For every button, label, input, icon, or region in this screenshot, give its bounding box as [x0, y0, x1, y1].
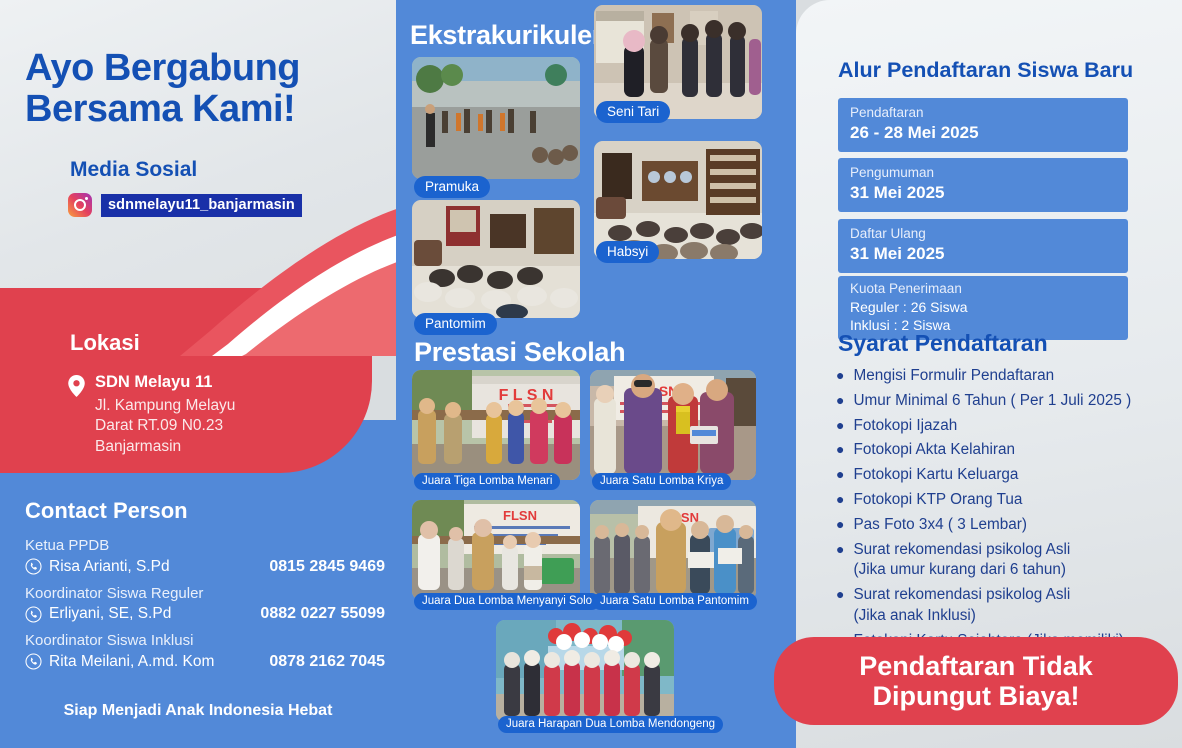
- instagram-icon: [68, 193, 92, 217]
- contact-line[interactable]: Rita Meilani, A.md. Kom 0878 2162 7045: [25, 653, 385, 671]
- list-item: ●Surat rekomendasi psikolog Asli (Jika a…: [836, 585, 1166, 627]
- step-value: 31 Mei 2025: [850, 243, 1116, 264]
- phone-icon: [25, 558, 42, 575]
- contact-phone[interactable]: 0882 0227 55099: [260, 605, 385, 623]
- photo-prestasi-1: F L S N: [412, 370, 580, 480]
- contact-line[interactable]: Erliyani, SE, S.Pd 0882 0227 55099: [25, 605, 385, 623]
- lokasi-city: Banjarmasin: [95, 437, 235, 457]
- page-title: Ayo Bergabung Bersama Kami!: [25, 48, 300, 130]
- bullet-icon: ●: [836, 366, 844, 387]
- list-item: ●Mengisi Formulir Pendaftaran: [836, 366, 1166, 387]
- syarat-text: Surat rekomendasi psikolog Asli (Jika um…: [853, 540, 1070, 582]
- step-daftar-ulang: Daftar Ulang 31 Mei 2025: [838, 219, 1128, 273]
- contact-entry: Koordinator Siswa Reguler Erliyani, SE, …: [25, 583, 385, 624]
- contact-entry: Koordinator Siswa Inklusi Rita Meilani, …: [25, 630, 385, 671]
- contact-line[interactable]: Risa Arianti, S.Pd 0815 2845 9469: [25, 558, 385, 576]
- list-item: ●Surat rekomendasi psikolog Asli (Jika u…: [836, 540, 1166, 582]
- contact-name: Rita Meilani, A.md. Kom: [49, 653, 214, 671]
- syarat-text: Fotokopi Akta Kelahiran: [853, 440, 1015, 461]
- syarat-heading: Syarat Pendaftaran: [838, 330, 1048, 357]
- step-label: Pendaftaran: [850, 105, 1116, 122]
- syarat-text: Pas Foto 3x4 ( 3 Lembar): [853, 515, 1026, 536]
- bullet-icon: ●: [836, 391, 844, 412]
- list-item: ●Pas Foto 3x4 ( 3 Lembar): [836, 515, 1166, 536]
- contact-person-list: Ketua PPDB Risa Arianti, S.Pd 0815 2845 …: [25, 535, 385, 678]
- contact-phone[interactable]: 0878 2162 7045: [269, 653, 385, 671]
- instagram-handle[interactable]: sdnmelayu11_banjarmasin: [101, 194, 302, 217]
- lokasi-heading: Lokasi: [70, 330, 140, 356]
- step-pendaftaran: Pendaftaran 26 - 28 Mei 2025: [838, 98, 1128, 152]
- left-panel: Ayo Bergabung Bersama Kami! Media Sosial…: [0, 0, 396, 748]
- instagram-row[interactable]: sdnmelayu11_banjarmasin: [68, 193, 302, 217]
- lokasi-school-name: SDN Melayu 11: [95, 372, 235, 394]
- ekstrakurikuler-heading: Ekstrakurikuler: [410, 20, 602, 51]
- bullet-icon: ●: [836, 540, 844, 582]
- contact-name: Erliyani, SE, S.Pd: [49, 605, 171, 623]
- right-panel: Alur Pendaftaran Siswa Baru Pendaftaran …: [796, 0, 1182, 748]
- map-pin-icon: [68, 375, 85, 397]
- list-item: ●Fotokopi KTP Orang Tua: [836, 490, 1166, 511]
- syarat-text: Fotokopi Kartu Keluarga: [853, 465, 1018, 486]
- list-item: ●Fotokopi Akta Kelahiran: [836, 440, 1166, 461]
- middle-panel: Ekstrakurikuler: [396, 0, 796, 748]
- contact-person-heading: Contact Person: [25, 498, 188, 524]
- caption-prestasi-2: Juara Satu Lomba Kriya: [592, 473, 731, 490]
- alur-heading: Alur Pendaftaran Siswa Baru: [838, 58, 1133, 83]
- caption-prestasi-1: Juara Tiga Lomba Menari: [414, 473, 560, 490]
- bullet-icon: ●: [836, 515, 844, 536]
- caption-pantomim: Pantomim: [414, 313, 497, 335]
- list-item: ●Fotokopi Ijazah: [836, 416, 1166, 437]
- step-value: 31 Mei 2025: [850, 182, 1116, 203]
- photo-prestasi-2: FLSN: [590, 370, 756, 480]
- photo-prestasi-5: [496, 620, 674, 722]
- syarat-list: ●Mengisi Formulir Pendaftaran ●Umur Mini…: [836, 366, 1166, 656]
- phone-icon: [25, 653, 42, 670]
- bullet-icon: ●: [836, 585, 844, 627]
- step-pengumuman: Pengumuman 31 Mei 2025: [838, 158, 1128, 212]
- caption-seni-tari: Seni Tari: [596, 101, 670, 123]
- media-sosial-label: Media Sosial: [70, 158, 197, 182]
- syarat-text: Surat rekomendasi psikolog Asli (Jika an…: [853, 585, 1070, 627]
- step-label: Daftar Ulang: [850, 226, 1116, 243]
- poster-root: Ayo Bergabung Bersama Kami! Media Sosial…: [0, 0, 1182, 748]
- contact-name: Risa Arianti, S.Pd: [49, 558, 170, 576]
- caption-pramuka: Pramuka: [414, 176, 490, 198]
- kuota-reguler: Reguler : 26 Siswa: [850, 298, 1116, 316]
- free-registration-banner: Pendaftaran Tidak Dipungut Biaya!: [774, 637, 1178, 725]
- contact-role: Koordinator Siswa Inklusi: [25, 630, 385, 653]
- contact-role: Koordinator Siswa Reguler: [25, 583, 385, 606]
- caption-prestasi-5: Juara Harapan Dua Lomba Mendongeng: [498, 716, 723, 733]
- banner-text: Pendaftaran Tidak Dipungut Biaya!: [859, 651, 1093, 711]
- lokasi-address: SDN Melayu 11 Jl. Kampung Melayu Darat R…: [95, 372, 235, 457]
- bullet-icon: ●: [836, 440, 844, 461]
- headline-line-2: Bersama Kami!: [25, 89, 300, 130]
- headline-line-1: Ayo Bergabung: [25, 48, 300, 89]
- photo-prestasi-3: FLSN: [412, 500, 580, 600]
- syarat-text: Umur Minimal 6 Tahun ( Per 1 Juli 2025 ): [853, 391, 1131, 412]
- footer-tagline: Siap Menjadi Anak Indonesia Hebat: [0, 702, 396, 720]
- caption-habsyi: Habsyi: [596, 241, 659, 263]
- photo-prestasi-4: FLSN: [590, 500, 756, 600]
- kuota-label: Kuota Penerimaan: [850, 281, 1116, 298]
- contact-role: Ketua PPDB: [25, 535, 385, 558]
- caption-prestasi-4: Juara Satu Lomba Pantomim: [592, 593, 757, 610]
- lokasi-street: Jl. Kampung Melayu: [95, 396, 235, 416]
- photo-pantomim: [412, 200, 580, 318]
- banner-line-2: Dipungut Biaya!: [859, 681, 1093, 711]
- syarat-text: Fotokopi Ijazah: [853, 416, 957, 437]
- phone-icon: [25, 606, 42, 623]
- syarat-text: Fotokopi KTP Orang Tua: [853, 490, 1022, 511]
- contact-entry: Ketua PPDB Risa Arianti, S.Pd 0815 2845 …: [25, 535, 385, 576]
- lokasi-rt: Darat RT.09 N0.23: [95, 416, 235, 436]
- left-panel-content: Ayo Bergabung Bersama Kami! Media Sosial…: [0, 0, 396, 748]
- svg-text:FLSN: FLSN: [503, 508, 537, 523]
- bullet-icon: ●: [836, 465, 844, 486]
- step-value: 26 - 28 Mei 2025: [850, 122, 1116, 143]
- bullet-icon: ●: [836, 416, 844, 437]
- banner-line-1: Pendaftaran Tidak: [859, 651, 1093, 681]
- caption-prestasi-3: Juara Dua Lomba Menyanyi Solo: [414, 593, 600, 610]
- prestasi-heading: Prestasi Sekolah: [414, 337, 625, 368]
- photo-pramuka: [412, 57, 580, 179]
- list-item: ●Umur Minimal 6 Tahun ( Per 1 Juli 2025 …: [836, 391, 1166, 412]
- step-label: Pengumuman: [850, 165, 1116, 182]
- lokasi-body: SDN Melayu 11 Jl. Kampung Melayu Darat R…: [68, 372, 235, 457]
- syarat-text: Mengisi Formulir Pendaftaran: [853, 366, 1054, 387]
- contact-phone[interactable]: 0815 2845 9469: [269, 558, 385, 576]
- bullet-icon: ●: [836, 490, 844, 511]
- list-item: ●Fotokopi Kartu Keluarga: [836, 465, 1166, 486]
